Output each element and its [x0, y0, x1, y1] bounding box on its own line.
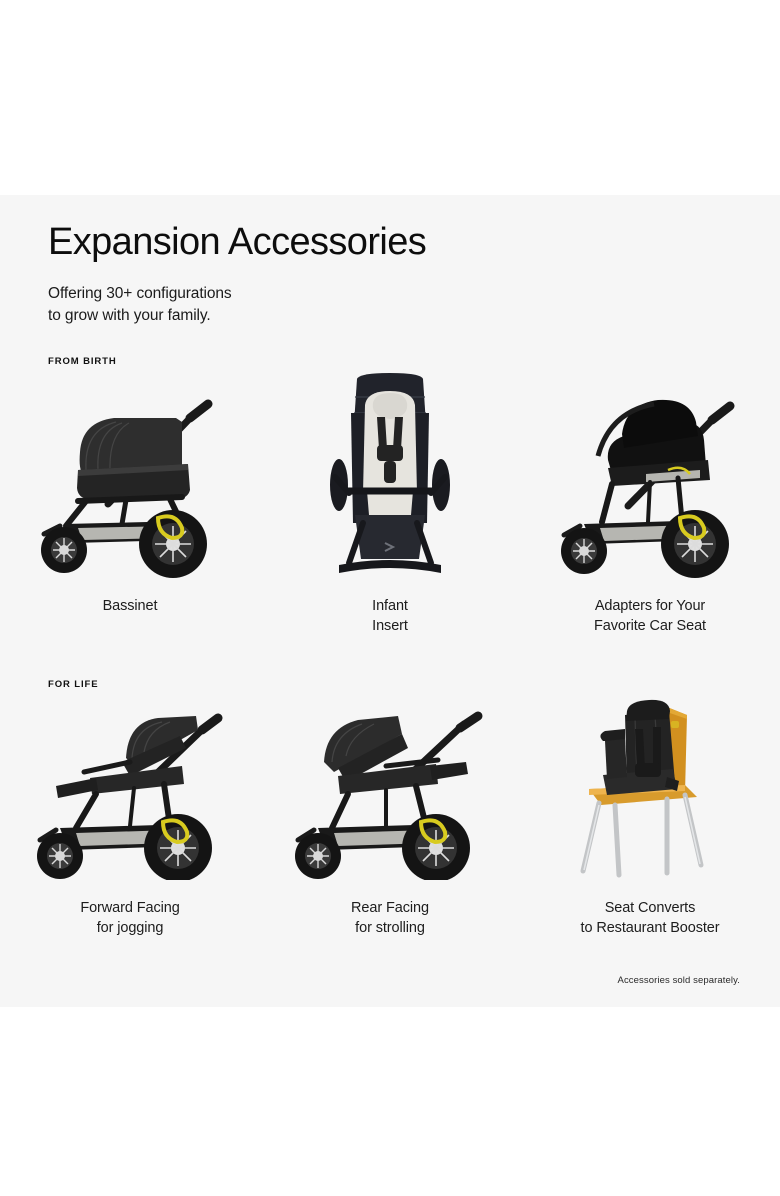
section-label-from-birth: FROM BIRTH — [48, 356, 117, 367]
product-caption: Seat Converts to Restaurant Booster — [581, 898, 720, 938]
product-caption: Rear Facing for strolling — [351, 898, 429, 938]
product-caption: Bassinet — [103, 596, 158, 616]
caption-line-1: Infant — [372, 596, 408, 616]
caption-line-1: Rear Facing — [351, 898, 429, 918]
product-cell-infant-insert[interactable]: Infant Insert — [260, 378, 520, 653]
page-subtitle: Offering 30+ configurations to grow with… — [48, 283, 232, 327]
caption-line-2: Insert — [372, 616, 408, 636]
caption-line-1: Bassinet — [103, 596, 158, 616]
stroller-rear-facing-icon — [260, 700, 520, 880]
product-cell-bassinet[interactable]: Bassinet — [0, 378, 260, 653]
subtitle-line-1: Offering 30+ configurations — [48, 283, 232, 305]
caption-line-1: Seat Converts — [581, 898, 720, 918]
product-row-from-birth: Bassinet — [0, 378, 780, 653]
product-cell-car-seat-adapter[interactable]: Adapters for Your Favorite Car Seat — [520, 378, 780, 653]
caption-line-2: to Restaurant Booster — [581, 918, 720, 938]
stroller-forward-facing-icon — [0, 700, 260, 880]
stroller-bassinet-icon — [0, 378, 260, 578]
section-label-for-life: FOR LIFE — [48, 679, 98, 690]
footnote-accessories-sold-separately: Accessories sold separately. — [618, 975, 740, 986]
product-cell-rear-facing[interactable]: Rear Facing for strolling — [260, 700, 520, 950]
caption-line-2: for jogging — [80, 918, 179, 938]
product-caption: Infant Insert — [372, 596, 408, 636]
caption-line-2: for strolling — [351, 918, 429, 938]
booster-seat-on-chair-icon — [520, 700, 780, 880]
product-row-for-life: Forward Facing for jogging — [0, 700, 780, 950]
product-caption: Adapters for Your Favorite Car Seat — [594, 596, 706, 636]
stroller-infant-insert-front-icon — [260, 378, 520, 578]
product-caption: Forward Facing for jogging — [80, 898, 179, 938]
caption-line-2: Favorite Car Seat — [594, 616, 706, 636]
product-cell-forward-facing[interactable]: Forward Facing for jogging — [0, 700, 260, 950]
page-title: Expansion Accessories — [48, 222, 426, 264]
caption-line-1: Adapters for Your — [594, 596, 706, 616]
caption-line-1: Forward Facing — [80, 898, 179, 918]
subtitle-line-2: to grow with your family. — [48, 305, 232, 327]
product-cell-restaurant-booster[interactable]: Seat Converts to Restaurant Booster — [520, 700, 780, 950]
accessories-page: Expansion Accessories Offering 30+ confi… — [0, 0, 780, 1196]
stroller-car-seat-adapter-icon — [520, 378, 780, 578]
